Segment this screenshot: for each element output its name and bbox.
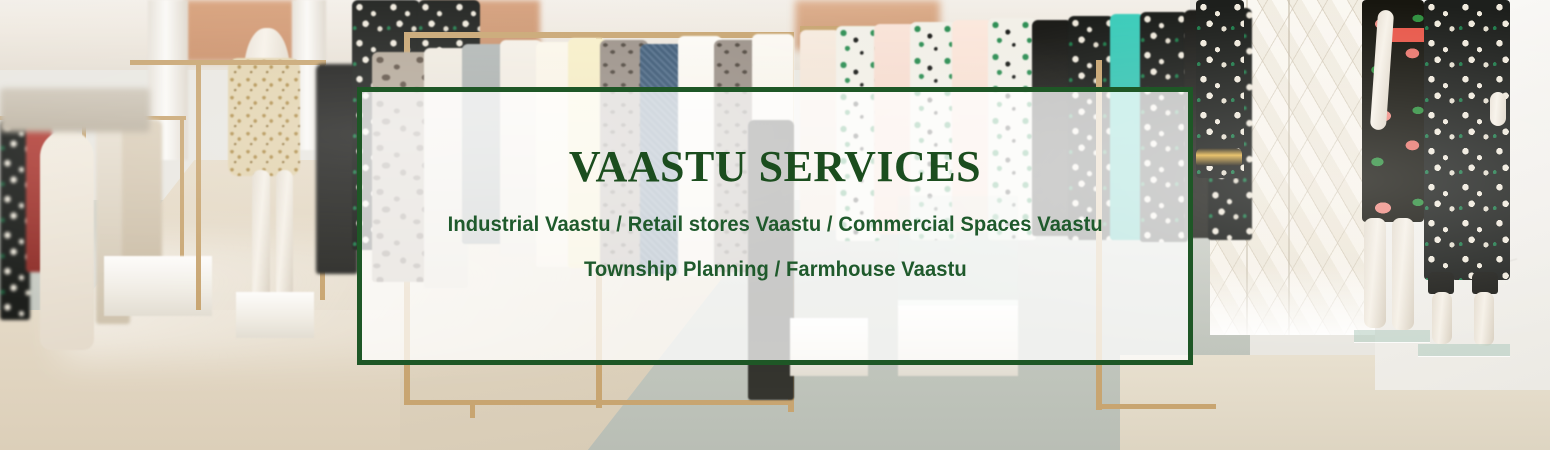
garment-rack-rail [130, 60, 326, 65]
display-plinth [236, 292, 314, 338]
garment-rack-foot [470, 404, 475, 418]
garment-cuff [1196, 148, 1242, 166]
garment-rack-base [1096, 404, 1216, 409]
mannequin-leg [1364, 218, 1386, 328]
vaastu-services-banner: VAASTU SERVICES Industrial Vaastu / Reta… [0, 0, 1550, 450]
services-line-1: Industrial Vaastu / Retail stores Vaastu… [447, 212, 1102, 237]
garment-ankle-cuff [1428, 272, 1454, 294]
mannequin-leg [252, 170, 270, 300]
garment-ankle-cuff [1472, 272, 1498, 294]
services-line-2: Township Planning / Farmhouse Vaastu [584, 257, 967, 282]
embellished-dress [228, 58, 300, 176]
garment-rack-post [196, 60, 201, 310]
fur-coat-garment [40, 130, 94, 350]
background-shelf-display [0, 88, 150, 132]
mannequin-hand [1490, 92, 1506, 126]
mannequin-leg [276, 170, 293, 298]
headline-overlay-card: VAASTU SERVICES Industrial Vaastu / Reta… [357, 87, 1193, 365]
mannequin-glass-base [1418, 344, 1510, 356]
mannequin-glass-base [1354, 330, 1430, 342]
mannequin-leg [1432, 292, 1452, 344]
mannequin-leg [1474, 292, 1494, 346]
floral-jumpsuit [1424, 0, 1510, 280]
mannequin-leg [1392, 218, 1414, 330]
page-title: VAASTU SERVICES [569, 144, 981, 190]
garment-rack-base [404, 400, 794, 405]
